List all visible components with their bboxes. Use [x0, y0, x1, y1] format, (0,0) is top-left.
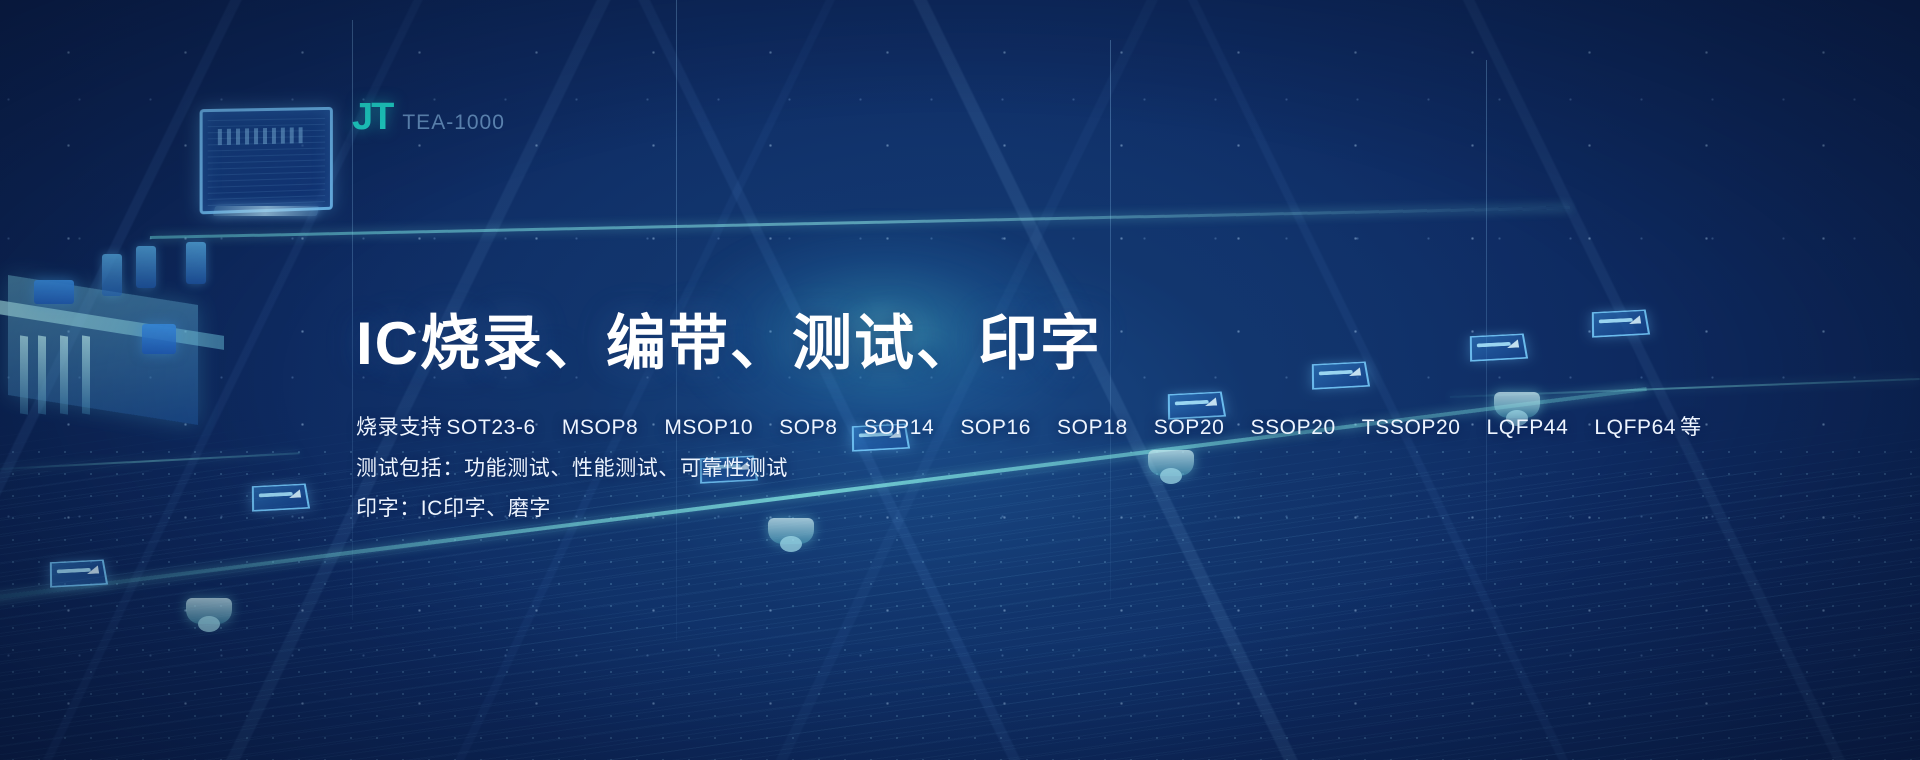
package-label: LQFP44 — [1487, 416, 1569, 439]
test-scope-line: 测试包括：功能测试、性能测试、可靠性测试 — [356, 449, 1596, 490]
brand-lockup: JT TEA-1000 — [352, 98, 505, 136]
package-label: SSOP20 — [1250, 416, 1335, 439]
machine-control-box — [34, 280, 74, 304]
package-label: SOP8 — [779, 416, 837, 439]
supported-packages-line: 烧录支持 SOT23-6MSOP8MSOP10SOP8SOP14SOP16SOP… — [356, 408, 1596, 449]
package-label: MSOP10 — [664, 416, 753, 439]
burn-support-label: 烧录支持 — [356, 408, 442, 449]
machine-control-box — [142, 324, 176, 354]
machine-cylinder — [186, 242, 206, 284]
package-label: SOP16 — [960, 416, 1031, 439]
machine-cylinder — [136, 246, 156, 288]
machine-fin — [60, 335, 68, 414]
page-title: IC烧录、编带、测试、印字 — [356, 312, 1596, 376]
package-label: SOT23-6 — [446, 416, 535, 439]
chip-tray-icon — [252, 484, 310, 512]
package-label: MSOP8 — [562, 416, 639, 439]
ic-services-banner: JT TEA-1000 IC烧录、编带、测试、印字 烧录支持 SOT23-6MS… — [0, 0, 1920, 760]
package-label: SOP20 — [1154, 416, 1225, 439]
assembly-machine-decoration — [0, 232, 240, 432]
package-list-suffix: 等 — [1680, 416, 1702, 439]
monitor-stand — [213, 206, 319, 216]
marking-scope-line: 印字：IC印字、磨字 — [356, 489, 1596, 530]
monitor-screen — [208, 115, 325, 206]
brand-mark-jt: JT — [352, 98, 392, 136]
chip-tray-icon — [50, 560, 108, 588]
monitor-icon — [200, 107, 333, 215]
chip-tray-icon — [1592, 310, 1650, 338]
package-label: TSSOP20 — [1362, 416, 1461, 439]
package-label: SOP14 — [864, 416, 935, 439]
machine-fin — [38, 335, 46, 414]
package-list: SOT23-6MSOP8MSOP10SOP8SOP14SOP16SOP18SOP… — [446, 408, 1701, 449]
machine-fin — [20, 335, 28, 414]
package-label: LQFP64 — [1594, 416, 1676, 439]
brand-model-label: TEA-1000 — [402, 112, 505, 133]
machine-cylinder — [102, 254, 122, 296]
banner-content: IC烧录、编带、测试、印字 烧录支持 SOT23-6MSOP8MSOP10SOP… — [356, 312, 1596, 530]
rail-segment-decoration — [0, 452, 300, 470]
machine-fin — [82, 335, 90, 414]
roller-foot-icon — [186, 598, 232, 624]
banner-subcopy: 烧录支持 SOT23-6MSOP8MSOP10SOP8SOP14SOP16SOP… — [356, 408, 1596, 531]
package-label: SOP18 — [1057, 416, 1128, 439]
